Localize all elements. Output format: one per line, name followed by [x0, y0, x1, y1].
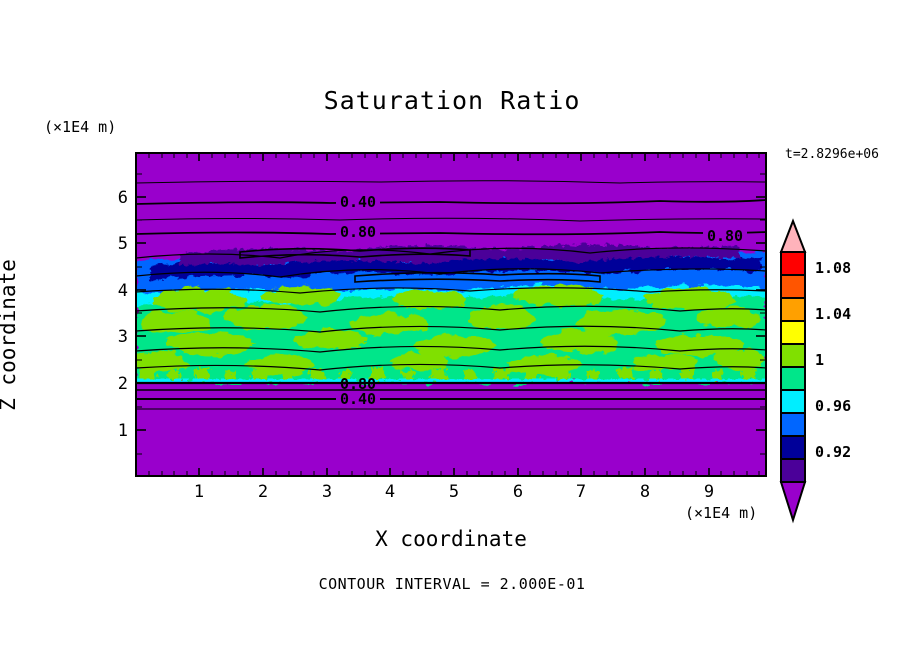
plume-blob	[390, 353, 450, 371]
figure-canvas: Saturation Ratio (×1E4 m) t=2.8296e+06 Z…	[0, 0, 904, 654]
colorbar-tick-label: 0.96	[815, 397, 851, 415]
colorbar-under-arrow	[781, 482, 805, 520]
plume-blob	[166, 332, 254, 356]
colorbar-band	[781, 298, 805, 321]
colorbar-band	[781, 413, 805, 436]
colorbar-tick-label: 1.08	[815, 259, 851, 277]
y-tick-label: 4	[104, 281, 128, 301]
contour-plot-svg: 0.40 0.80 0.80 0.80 0.40	[0, 0, 904, 654]
plume-blob	[698, 307, 762, 327]
x-tick-label: 8	[634, 482, 656, 502]
colorbar-band	[781, 390, 805, 413]
plume-blob	[542, 330, 618, 354]
y-tick-label: 6	[104, 188, 128, 208]
mixing-region	[130, 244, 766, 383]
x-tick-label: 9	[698, 482, 720, 502]
plume-blob	[260, 286, 340, 306]
contour-label: 0.40	[340, 193, 376, 211]
filament	[140, 368, 156, 380]
plume-blob	[352, 314, 428, 334]
colorbar-tick-label: 0.92	[815, 443, 851, 461]
x-tick-label: 2	[252, 482, 274, 502]
colorbar-tick-label: 1	[815, 351, 824, 369]
colorbar-band	[781, 436, 805, 459]
contour-label: 0.80	[340, 223, 376, 241]
x-tick-label: 6	[507, 482, 529, 502]
x-tick-label: 4	[379, 482, 401, 502]
contour-field: 0.40 0.80 0.80 0.80 0.40	[130, 153, 766, 476]
y-tick-label: 2	[104, 374, 128, 394]
colorbar-band	[781, 275, 805, 298]
colorbar-over-arrow	[781, 221, 805, 252]
colorbar-band	[781, 367, 805, 390]
x-tick-label: 3	[316, 482, 338, 502]
colorbar-band	[781, 344, 805, 367]
x-tick-label: 5	[443, 482, 465, 502]
colorbar[interactable]	[781, 221, 805, 520]
y-tick-label: 3	[104, 327, 128, 347]
x-tick-label: 7	[570, 482, 592, 502]
colorbar-band	[781, 321, 805, 344]
contour-label: 0.80	[707, 227, 743, 245]
x-tick-label: 1	[188, 482, 210, 502]
plume-blob	[294, 330, 366, 350]
y-tick-label: 5	[104, 234, 128, 254]
contour-label: 0.40	[340, 390, 376, 408]
colorbar-tick-label: 1.04	[815, 305, 851, 323]
colorbar-band	[781, 459, 805, 482]
y-tick-label: 1	[104, 421, 128, 441]
colorbar-band	[781, 252, 805, 275]
filament	[742, 368, 756, 380]
